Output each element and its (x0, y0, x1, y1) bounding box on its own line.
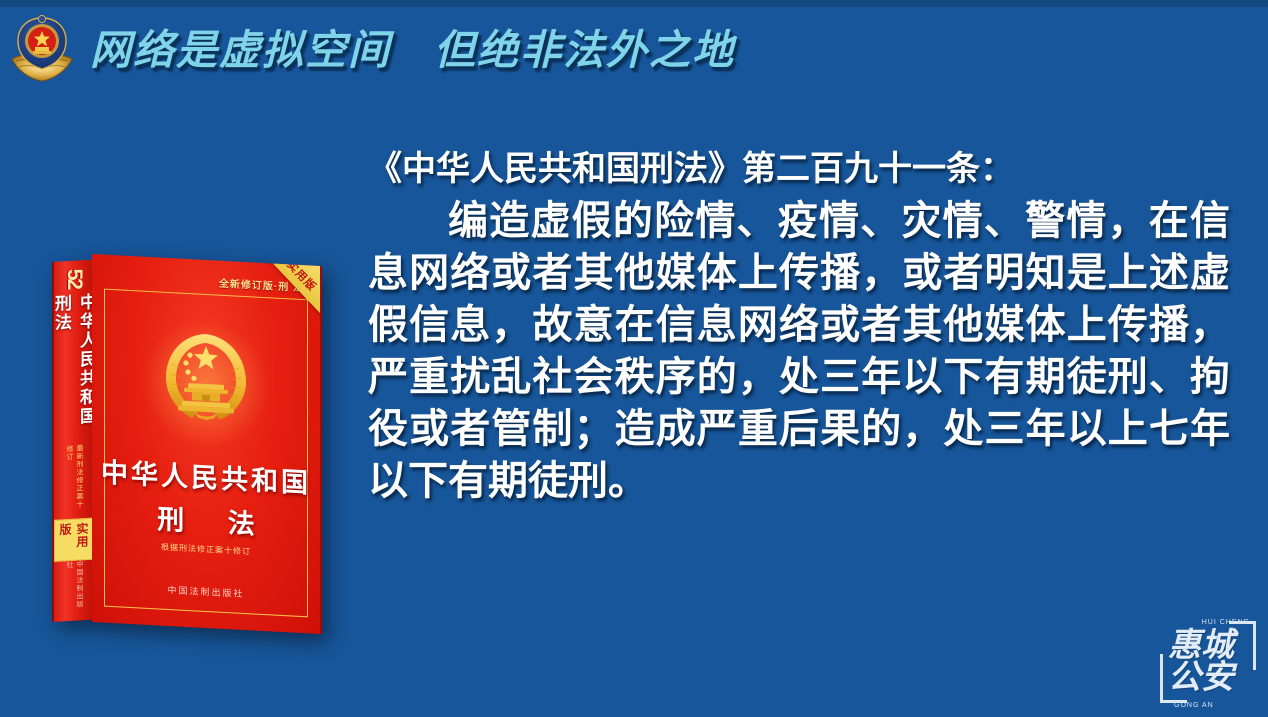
national-emblem-icon (154, 323, 258, 432)
book-spine-subtitle: 最新刑法修正案十修订 (64, 445, 84, 515)
article-title: 《中华人民共和国刑法》第二百九十一条： (368, 148, 1230, 191)
watermark-logo: HUI CHENG 惠城公安 GONG AN (1156, 611, 1260, 711)
book-spine-title: 中华人民共和国刑法 (52, 293, 94, 443)
book-spine: 52 中华人民共和国刑法 最新刑法修正案十修订 实用版 中国法制出版社 (52, 260, 94, 622)
watermark-pinyin-top: HUI CHENG (1202, 619, 1250, 626)
book-spine-tag: 实用版 (54, 518, 94, 562)
book-spine-number: 52 (62, 268, 86, 289)
book-spine-publisher: 中国法制出版社 (64, 560, 84, 609)
law-book-image: 52 中华人民共和国刑法 最新刑法修正案十修订 实用版 中国法制出版社 全新修订… (38, 248, 338, 630)
header-slogan: 网络是虚拟空间 但绝非法外之地 (90, 30, 735, 71)
article-block: 《中华人民共和国刑法》第二百九十一条： 编造虚假的险情、疫情、灾情、警情，在信息… (368, 148, 1230, 507)
police-badge-icon (8, 15, 76, 85)
top-edge-strip (0, 0, 1268, 7)
header-banner: 网络是虚拟空间 但绝非法外之地 (0, 7, 1268, 93)
watermark-text: 惠城公安 (1168, 629, 1250, 694)
book-cover: 全新修订版·刑 法 实用版 (92, 254, 322, 634)
slide-canvas: 网络是虚拟空间 但绝非法外之地 52 中华人民共和国刑法 最新刑法修正案十修订 … (0, 0, 1268, 717)
article-body: 编造虚假的险情、疫情、灾情、警情，在信息网络或者其他媒体上传播，或者明知是上述虚… (368, 195, 1230, 507)
watermark-pinyin-bottom: GONG AN (1174, 702, 1214, 709)
